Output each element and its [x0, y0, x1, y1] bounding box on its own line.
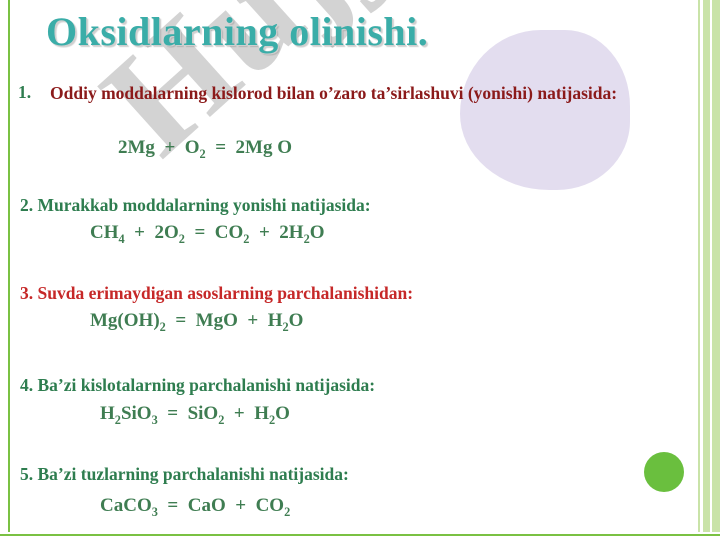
equation-4-equals: =: [167, 403, 178, 424]
right-decorative-bar: [698, 0, 720, 540]
list-item-1-text: Oddiy moddalarning kislorod bilan o’zaro…: [50, 82, 690, 104]
equation-3-product-c: H: [268, 310, 283, 331]
equation-4-operator-plus: +: [234, 403, 245, 424]
equation-5-equals: =: [167, 495, 178, 516]
right-accent-line-1: [700, 0, 703, 540]
equation-4: H2SiO3 = SiO2 + H2O: [100, 403, 290, 428]
equation-5-operator-plus: +: [235, 495, 246, 516]
equation-1-product: 2Mg O: [236, 137, 292, 158]
equation-2-product-e: O: [310, 222, 325, 243]
equation-4-product-c-subscript: 2: [218, 413, 224, 427]
green-circle-decoration: [644, 452, 684, 492]
equation-3-reactant-a-subscript: 2: [160, 320, 166, 334]
equation-5-product-c: CO: [256, 495, 285, 516]
right-accent-line-2: [710, 0, 712, 540]
equation-4-reactant-b: SiO: [121, 403, 152, 424]
equation-4-product-d: H: [254, 403, 269, 424]
equation-3-reactant-a: Mg(OH): [90, 310, 160, 331]
equation-2-reactant-a-subscript: 4: [119, 232, 125, 246]
watermark-blob-shape: [460, 30, 630, 190]
equation-2-equals: =: [194, 222, 205, 243]
equation-3-operator-plus: +: [247, 310, 258, 331]
equation-1-reactant-b-subscript: 2: [200, 147, 206, 161]
equation-2-reactant-b-subscript: 2: [179, 232, 185, 246]
equation-1-operator-plus: +: [164, 137, 175, 158]
equation-3-equals: =: [175, 310, 186, 331]
list-item-3-text: 3. Suvda erimaydigan asoslarning parchal…: [20, 283, 413, 305]
list-item-2-text: 2. Murakkab moddalarning yonishi natijas…: [20, 195, 371, 217]
list-item-4-text: 4. Ba’zi kislotalarning parchalanishi na…: [20, 375, 375, 397]
equation-4-product-e: O: [275, 403, 290, 424]
equation-3-product-d: O: [289, 310, 304, 331]
equation-2-product-c: CO: [215, 222, 244, 243]
equation-2-product-d: 2H: [279, 222, 303, 243]
equation-1-reactant-a: 2Mg: [118, 137, 155, 158]
equation-4-product-c: SiO: [188, 403, 219, 424]
equation-1: 2Mg + O2 = 2Mg O: [118, 137, 292, 162]
equation-2: CH4 + 2O2 = CO2 + 2H2O: [90, 222, 325, 247]
left-accent-line: [8, 0, 10, 540]
equation-5: CaCO3 = CaO + CO2: [100, 495, 290, 520]
equation-5-reactant-a-subscript: 3: [152, 505, 158, 519]
equation-3-product-b: MgO: [196, 310, 238, 331]
equation-4-reactant-b-subscript: 3: [152, 413, 158, 427]
left-decorative-bar: [0, 0, 14, 540]
equation-4-reactant-a: H: [100, 403, 115, 424]
list-item-1-number: 1.: [18, 82, 50, 103]
equation-1-equals: =: [215, 137, 226, 158]
equation-3: Mg(OH)2 = MgO + H2O: [90, 310, 303, 335]
equation-5-product-b: CaO: [188, 495, 226, 516]
equation-2-reactant-a: CH: [90, 222, 119, 243]
list-item-1: 1. Oddiy moddalarning kislorod bilan o’z…: [18, 82, 690, 104]
equation-1-reactant-b: O: [185, 137, 200, 158]
bottom-accent-line: [0, 534, 720, 536]
page-title: Oksidlarning olinishi.: [46, 8, 428, 55]
bottom-decorative-bar: [0, 532, 720, 540]
equation-2-product-c-subscript: 2: [243, 232, 249, 246]
equation-2-operator-plus-1: +: [134, 222, 145, 243]
list-item-5-text: 5. Ba’zi tuzlarning parchalanishi natija…: [20, 464, 349, 486]
slide: Hujjat 24 Oksidlarning olinishi. 1. Oddi…: [0, 0, 720, 540]
equation-5-reactant-a: CaCO: [100, 495, 152, 516]
equation-2-reactant-b: 2O: [155, 222, 179, 243]
equation-5-product-c-subscript: 2: [284, 505, 290, 519]
equation-2-operator-plus-2: +: [259, 222, 270, 243]
